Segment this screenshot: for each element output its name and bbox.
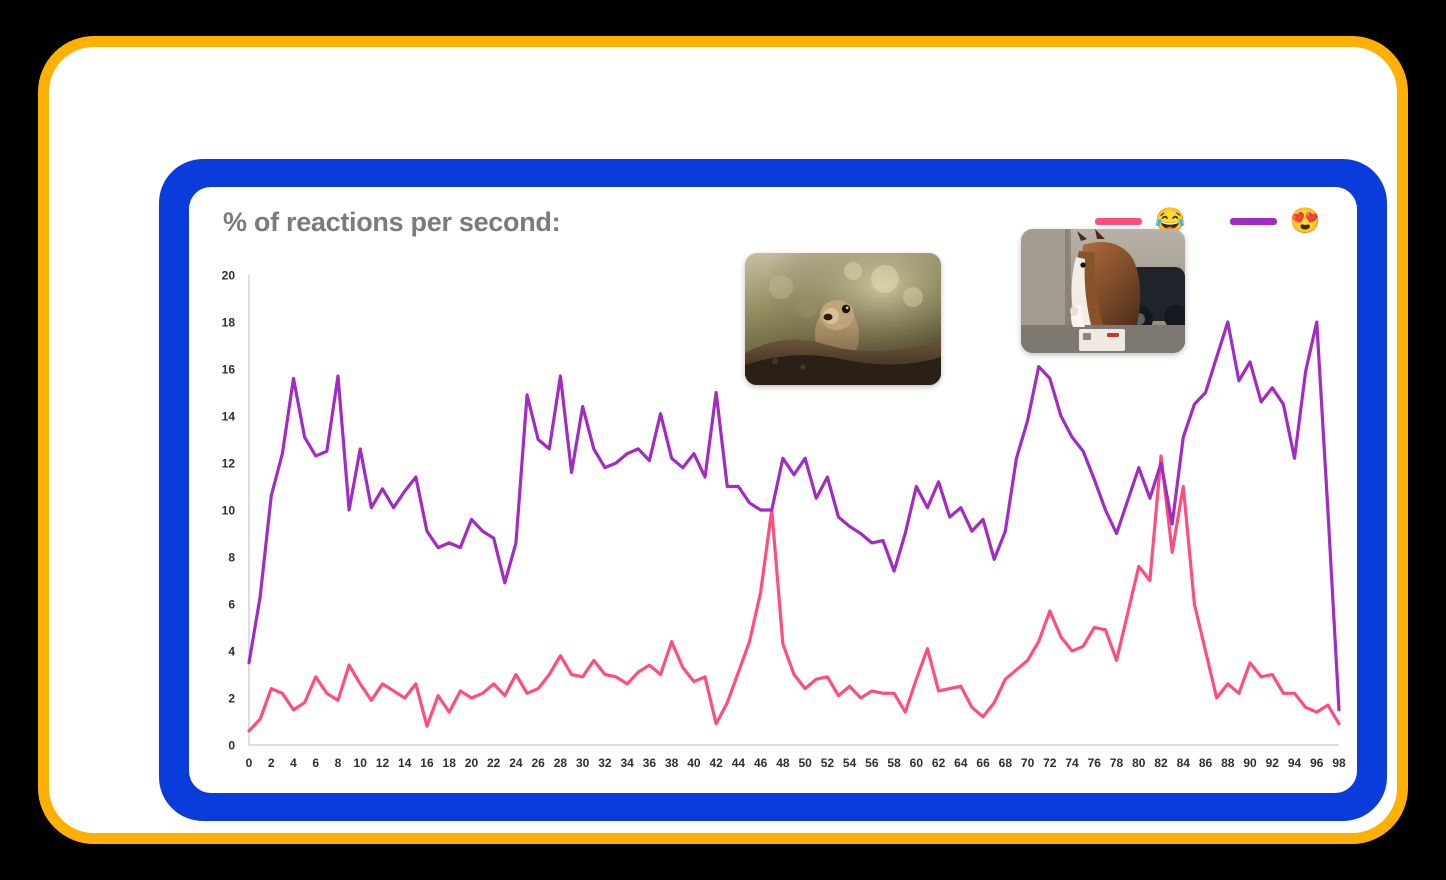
heart-eyes-emoji-icon: 😍 (1290, 209, 1321, 234)
horse-image (1021, 229, 1185, 353)
x-axis-tick-label: 34 (620, 756, 634, 770)
x-axis-tick-label: 44 (732, 756, 746, 770)
x-axis-tick-label: 78 (1110, 756, 1124, 770)
video-thumbnail-horse[interactable] (1021, 229, 1185, 353)
x-axis-tick-label: 24 (509, 756, 523, 770)
x-axis-tick-label: 32 (598, 756, 612, 770)
x-axis-tick-label: 96 (1310, 756, 1324, 770)
legend-swatch-heart-eyes (1230, 218, 1277, 225)
x-axis-tick-label: 2 (268, 756, 275, 770)
x-axis-tick-label: 26 (532, 756, 546, 770)
x-axis-tick-label: 62 (932, 756, 946, 770)
x-axis-tick-label: 38 (665, 756, 679, 770)
x-axis-tick-label: 74 (1065, 756, 1079, 770)
x-axis-tick-label: 90 (1243, 756, 1257, 770)
screenshot-root: % of reactions per second: 😂 😍 02468 (0, 0, 1446, 880)
x-axis-tick-label: 64 (954, 756, 968, 770)
inner-blue-frame: % of reactions per second: 😂 😍 02468 (159, 159, 1387, 821)
x-axis-tick-label: 40 (687, 756, 701, 770)
y-axis-tick-label: 12 (222, 457, 236, 471)
x-axis-tick-label: 16 (420, 756, 434, 770)
x-axis-tick-label: 28 (554, 756, 568, 770)
x-axis-tick-label: 14 (398, 756, 412, 770)
x-axis-tick-label: 52 (821, 756, 835, 770)
x-axis-tick-label: 36 (643, 756, 657, 770)
x-axis-tick-label: 82 (1154, 756, 1168, 770)
y-axis-tick-label: 16 (222, 363, 236, 377)
x-axis-tick-label: 42 (709, 756, 723, 770)
legend-swatch-joy (1095, 218, 1142, 225)
x-axis-tick-label: 70 (1021, 756, 1035, 770)
x-axis-tick-label: 80 (1132, 756, 1146, 770)
x-axis-tick-label: 94 (1288, 756, 1302, 770)
x-axis-tick-label: 60 (910, 756, 924, 770)
x-axis-tick-label: 68 (999, 756, 1013, 770)
x-axis-tick-label: 72 (1043, 756, 1057, 770)
x-axis-tick-label: 22 (487, 756, 501, 770)
groundhog-image (745, 253, 941, 385)
y-axis-tick-label: 10 (222, 504, 236, 518)
x-axis-tick-label: 6 (312, 756, 319, 770)
x-axis-tick-label: 76 (1088, 756, 1102, 770)
x-axis-tick-label: 0 (246, 756, 253, 770)
x-axis-tick-label: 48 (776, 756, 790, 770)
x-axis-tick-label: 46 (754, 756, 768, 770)
x-axis-tick-label: 30 (576, 756, 590, 770)
x-axis-tick-label: 50 (798, 756, 812, 770)
chart-card: % of reactions per second: 😂 😍 02468 (189, 187, 1357, 793)
x-axis-tick-label: 92 (1266, 756, 1280, 770)
y-axis-tick-label: 20 (222, 269, 236, 283)
x-axis-tick-label: 54 (843, 756, 857, 770)
x-axis-tick-label: 86 (1199, 756, 1213, 770)
video-thumbnail-groundhog[interactable] (745, 253, 941, 385)
y-axis-tick-label: 6 (228, 598, 235, 612)
x-axis-tick-label: 58 (887, 756, 901, 770)
x-axis-tick-label: 12 (376, 756, 390, 770)
y-axis-tick-label: 18 (222, 316, 236, 330)
x-axis-tick-label: 20 (465, 756, 479, 770)
outer-amber-frame: % of reactions per second: 😂 😍 02468 (38, 36, 1408, 844)
x-axis-tick-label: 10 (354, 756, 368, 770)
y-axis-tick-label: 0 (228, 739, 235, 753)
y-axis-tick-label: 8 (228, 551, 235, 565)
legend-item-heart-eyes[interactable]: 😍 (1230, 209, 1321, 234)
x-axis-tick-label: 56 (865, 756, 879, 770)
x-axis-tick-label: 84 (1177, 756, 1191, 770)
x-axis-tick-label: 18 (443, 756, 457, 770)
y-axis-tick-label: 14 (222, 410, 236, 424)
x-axis-tick-label: 98 (1332, 756, 1346, 770)
x-axis-tick-label: 8 (335, 756, 342, 770)
y-axis-tick-label: 2 (228, 692, 235, 706)
y-axis-tick-label: 4 (228, 645, 235, 659)
page-title: % of reactions per second: (223, 207, 560, 238)
x-axis-tick-label: 4 (290, 756, 297, 770)
x-axis-tick-label: 88 (1221, 756, 1235, 770)
x-axis-tick-label: 66 (976, 756, 990, 770)
